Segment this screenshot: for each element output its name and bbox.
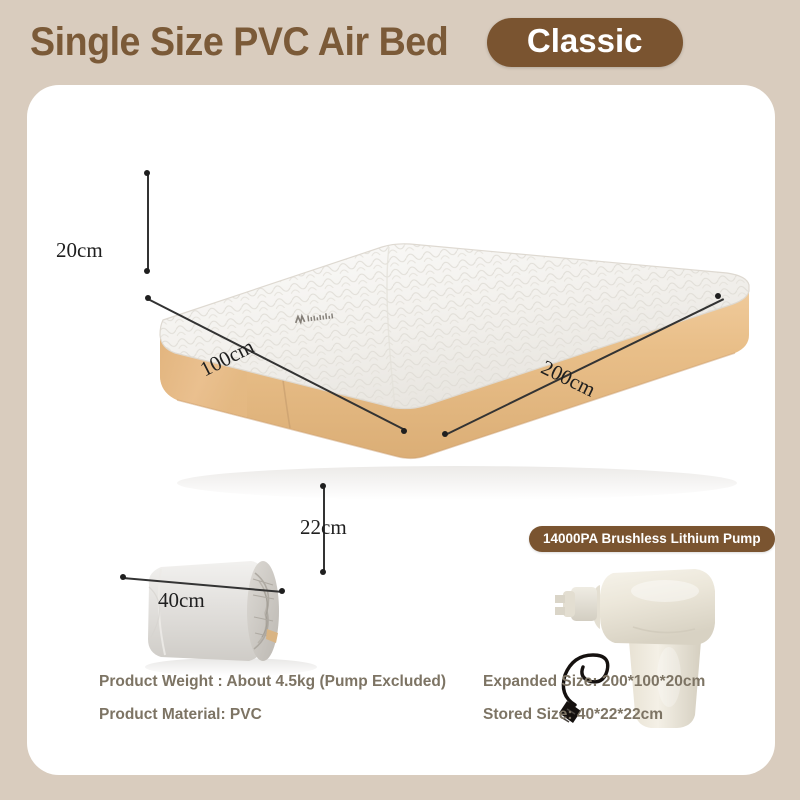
pump-nozzle-prong-top	[555, 595, 565, 603]
spec-stored-size: Stored Size: 40*22*22cm	[483, 698, 705, 731]
measure-dot-40cm-right	[279, 588, 285, 594]
spec-column-left: Product Weight : About 4.5kg (Pump Exclu…	[99, 665, 446, 731]
dimension-label-height-20cm: 20cm	[56, 238, 103, 263]
measure-dot-22cm-top	[320, 483, 326, 489]
page-title: Single Size PVC Air Bed	[30, 20, 448, 65]
classic-badge: Classic	[487, 18, 683, 67]
measure-dot-22cm-bottom	[320, 569, 326, 575]
rolled-bed-illustration	[139, 557, 329, 677]
measure-dot-200cm-end	[715, 293, 721, 299]
measure-dot-200cm-start	[442, 431, 448, 437]
pump-highlight	[631, 580, 699, 602]
spec-product-material: Product Material: PVC	[99, 698, 446, 731]
dimension-label-rolled-22cm: 22cm	[300, 515, 347, 540]
bed-shadow	[177, 466, 737, 500]
spec-expanded-size: Expanded Size: 200*100*20cm	[483, 665, 705, 698]
spec-column-right: Expanded Size: 200*100*20cm Stored Size:…	[483, 665, 705, 731]
measure-line-20cm	[147, 173, 149, 271]
header-bar: Single Size PVC Air Bed Classic	[0, 0, 800, 85]
measure-dot-100cm-start	[145, 295, 151, 301]
roll-end	[247, 561, 279, 661]
measure-dot-40cm-left	[120, 574, 126, 580]
spec-product-weight: Product Weight : About 4.5kg (Pump Exclu…	[99, 665, 446, 698]
dimension-label-rolled-40cm: 40cm	[158, 588, 205, 613]
measure-dot-20cm-bottom	[144, 268, 150, 274]
measure-dot-100cm-end	[401, 428, 407, 434]
pump-badge: 14000PA Brushless Lithium Pump	[529, 526, 775, 552]
pump-nozzle-prong-bottom	[555, 607, 565, 615]
measure-dot-20cm-top	[144, 170, 150, 176]
